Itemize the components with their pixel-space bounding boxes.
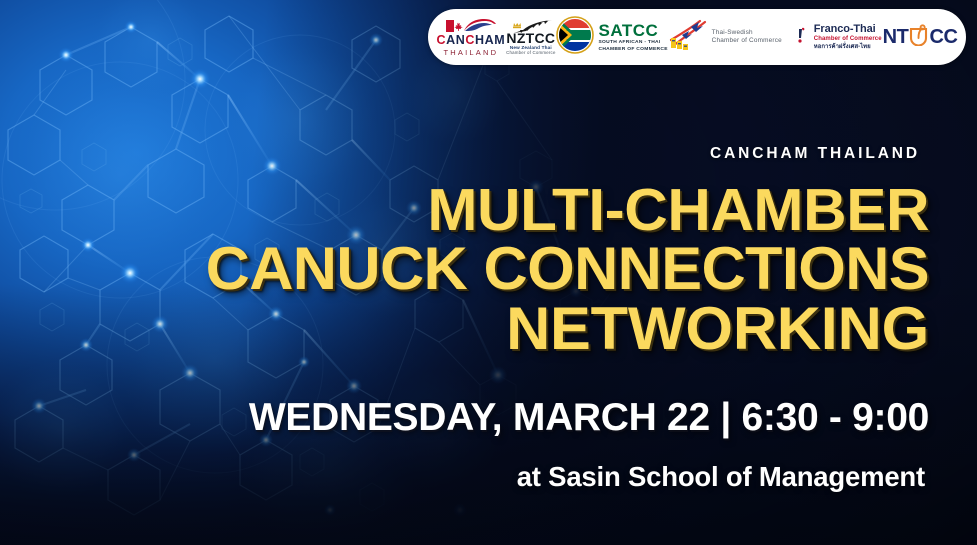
title-line-1: MULTI-CHAMBER [11, 181, 929, 239]
thai-swedish-line-2: Chamber of Commerce [712, 37, 782, 45]
satcc-text: SATCC SOUTH AFRICAN - THAI CHAMBER OF CO… [598, 22, 667, 53]
logo-satcc: SATCC SOUTH AFRICAN - THAI CHAMBER OF CO… [556, 14, 667, 60]
event-banner: CANCHAM THAILAND [0, 0, 977, 545]
franco-thai-c-icon [783, 21, 811, 54]
kicker-organization: CANCHAM THAILAND [710, 145, 920, 163]
satcc-subtitle-2: CHAMBER OF COMMERCE [598, 48, 667, 53]
cancham-subtitle: THAILAND [444, 49, 499, 57]
logo-nztcc: NZTCC New Zealand Thai Chamber of Commer… [506, 14, 555, 60]
cancham-flags-icon [444, 18, 498, 33]
thai-swedish-emblem-icon [669, 18, 709, 57]
event-datetime: WEDNESDAY, MARCH 22 | 6:30 - 9:00 [249, 396, 929, 440]
satcc-subtitle-1: SOUTH AFRICAN - THAI [598, 41, 667, 46]
title-line-3: NETWORKING [11, 299, 929, 358]
ntcc-tulip-icon [908, 23, 929, 51]
logo-ntcc: NT CC [883, 14, 958, 60]
event-title: MULTI-CHAMBER CANUCK CONNECTIONS NETWORK… [29, 181, 929, 358]
thai-swedish-line-1: Thai-Swedish [712, 29, 782, 37]
franco-thai-line-3-thai: หอการค้าฝรั่งเศส-ไทย [814, 44, 882, 51]
nztcc-subtitle-2: Chamber of Commerce [506, 50, 555, 55]
nztcc-wordmark: NZTCC [506, 31, 555, 45]
franco-thai-line-2: Chamber of Commerce [814, 36, 882, 43]
franco-thai-text: Franco-Thai Chamber of Commerce หอการค้า… [814, 23, 882, 50]
cancham-c1: C [436, 33, 446, 47]
event-venue: at Sasin School of Management [517, 461, 925, 493]
title-line-2: CANUCK CONNECTIONS [11, 239, 929, 298]
cancham-wordmark: CANCHAM [436, 34, 505, 47]
cancham-ham: HAM [475, 33, 505, 47]
franco-thai-line-1: Franco-Thai [814, 23, 882, 35]
ntcc-cc: CC [929, 26, 957, 49]
partner-logo-bar: CANCHAM THAILAND [428, 9, 966, 65]
logo-thai-swedish: Thai-Swedish Chamber of Commerce [669, 14, 782, 60]
logo-franco-thai: Franco-Thai Chamber of Commerce หอการค้า… [783, 14, 882, 60]
thai-swedish-text: Thai-Swedish Chamber of Commerce [712, 29, 782, 45]
logo-cancham-thailand: CANCHAM THAILAND [436, 14, 505, 60]
cancham-c2: C [465, 33, 475, 47]
south-africa-flag-roundel-icon [556, 16, 594, 59]
satcc-wordmark: SATCC [598, 22, 667, 39]
cancham-an: AN [446, 33, 465, 47]
ntcc-nt: NT [883, 26, 909, 49]
